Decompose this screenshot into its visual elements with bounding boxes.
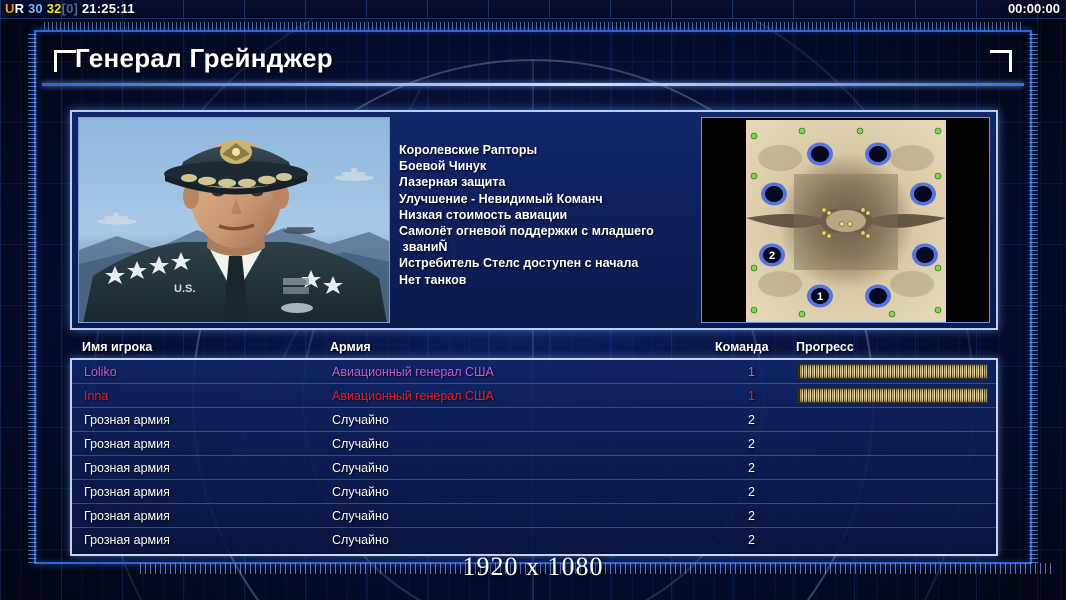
game-timer: 00:00:00 — [1008, 1, 1060, 16]
cell-team[interactable]: 2 — [748, 533, 755, 547]
cell-team[interactable]: 2 — [748, 461, 755, 475]
cell-player-name[interactable]: Грозная армия — [84, 413, 170, 427]
cell-player-name[interactable]: Грозная армия — [84, 437, 170, 451]
cell-team[interactable]: 2 — [748, 509, 755, 523]
cell-team[interactable]: 1 — [748, 389, 755, 403]
map-preview[interactable]: 21 — [701, 117, 990, 323]
title-bar: Генерал Грейнджер — [42, 38, 1024, 86]
ability-item: Истребитель Стелс доступен с начала — [399, 255, 699, 271]
resolution-overlay: 1920 x 1080 — [0, 552, 1066, 582]
general-info-panel: U.S. Королевские Рапторы Боевой Чинук Ла… — [70, 110, 998, 330]
player-table: LolikoАвиационный генерал США1InnaАвиаци… — [70, 358, 998, 556]
svg-text:U.S.: U.S. — [174, 283, 195, 295]
ruler-top — [44, 22, 1024, 30]
cell-army[interactable]: Случайно — [332, 461, 389, 475]
cell-army[interactable]: Случайно — [332, 509, 389, 523]
map-start-position[interactable] — [912, 244, 938, 267]
cell-team[interactable]: 2 — [748, 413, 755, 427]
map-start-position[interactable] — [910, 183, 936, 206]
general-portrait: U.S. — [78, 117, 390, 323]
map-start-position[interactable]: 1 — [807, 285, 833, 308]
cell-army[interactable]: Авиационный генерал США — [332, 389, 494, 403]
ability-item: Улучшение - Невидимый Команч — [399, 191, 699, 207]
map-start-position-label: 1 — [817, 291, 823, 303]
table-row[interactable]: Грозная армияСлучайно2 — [72, 456, 996, 480]
cell-army[interactable]: Случайно — [332, 485, 389, 499]
game-screen: UR 30 32[0] 21:25:11 00:00:00 Генерал Гр… — [0, 0, 1066, 600]
fps-value-3: [0] — [62, 1, 79, 16]
fps-readout: UR 30 32[0] 21:25:11 — [5, 1, 135, 16]
corner-bracket-top-left — [54, 50, 76, 72]
table-row[interactable]: Грозная армияСлучайно2 — [72, 480, 996, 504]
table-row[interactable]: Грозная армияСлучайно2 — [72, 504, 996, 528]
ability-item: Лазерная защита — [399, 174, 699, 190]
ability-list: Королевские Рапторы Боевой Чинук Лазерна… — [399, 142, 699, 288]
cell-player-name[interactable]: Inna — [84, 389, 108, 403]
ability-item: Боевой Чинук — [399, 158, 699, 174]
player-table-header: Имя игрока Армия Команда Прогресс — [78, 340, 993, 358]
column-header-team: Команда — [715, 340, 769, 354]
cell-army[interactable]: Случайно — [332, 437, 389, 451]
fps-label-u: U — [5, 1, 15, 16]
cell-army[interactable]: Случайно — [332, 533, 389, 547]
map-start-position-label: 2 — [769, 250, 775, 262]
fps-value-1: 30 — [28, 1, 43, 16]
cell-team[interactable]: 2 — [748, 485, 755, 499]
table-row[interactable]: Грозная армияСлучайно2 — [72, 528, 996, 552]
table-row[interactable]: LolikoАвиационный генерал США1 — [72, 360, 996, 384]
cell-team[interactable]: 1 — [748, 365, 755, 379]
progress-bar — [798, 364, 988, 379]
cell-player-name[interactable]: Грозная армия — [84, 485, 170, 499]
fps-value-2: 32 — [47, 1, 62, 16]
ability-item: Нет танков — [399, 272, 699, 288]
progress-bar — [798, 388, 988, 403]
corner-bracket-top-right — [990, 50, 1012, 72]
status-bar: UR 30 32[0] 21:25:11 00:00:00 — [0, 0, 1066, 19]
map-start-position[interactable] — [865, 143, 891, 166]
table-row[interactable]: InnaАвиационный генерал США1 — [72, 384, 996, 408]
page-title: Генерал Грейнджер — [75, 43, 333, 74]
map-start-position[interactable] — [865, 285, 891, 308]
cell-army[interactable]: Авиационный генерал США — [332, 365, 494, 379]
table-row[interactable]: Грозная армияСлучайно2 — [72, 408, 996, 432]
cell-player-name[interactable]: Грозная армия — [84, 533, 170, 547]
system-clock: 21:25:11 — [82, 1, 135, 16]
fps-label-r: R — [15, 1, 25, 16]
ability-item: Самолёт огневой поддержки с младшего зва… — [399, 223, 699, 255]
column-header-player: Имя игрока — [82, 340, 152, 354]
map-start-position[interactable] — [761, 183, 787, 206]
map-start-position[interactable]: 2 — [759, 244, 785, 267]
status-bar-ticks — [0, 0, 1066, 18]
cell-player-name[interactable]: Грозная армия — [84, 461, 170, 475]
cell-player-name[interactable]: Loliko — [84, 365, 117, 379]
column-header-army: Армия — [330, 340, 371, 354]
table-row[interactable]: Грозная армияСлучайно2 — [72, 432, 996, 456]
cell-player-name[interactable]: Грозная армия — [84, 509, 170, 523]
ability-item: Низкая стоимость авиации — [399, 207, 699, 223]
title-underline — [42, 83, 1024, 86]
map-start-position[interactable] — [807, 143, 833, 166]
cell-team[interactable]: 2 — [748, 437, 755, 451]
ability-item: Королевские Рапторы — [399, 142, 699, 158]
cell-army[interactable]: Случайно — [332, 413, 389, 427]
column-header-progress: Прогресс — [796, 340, 854, 354]
